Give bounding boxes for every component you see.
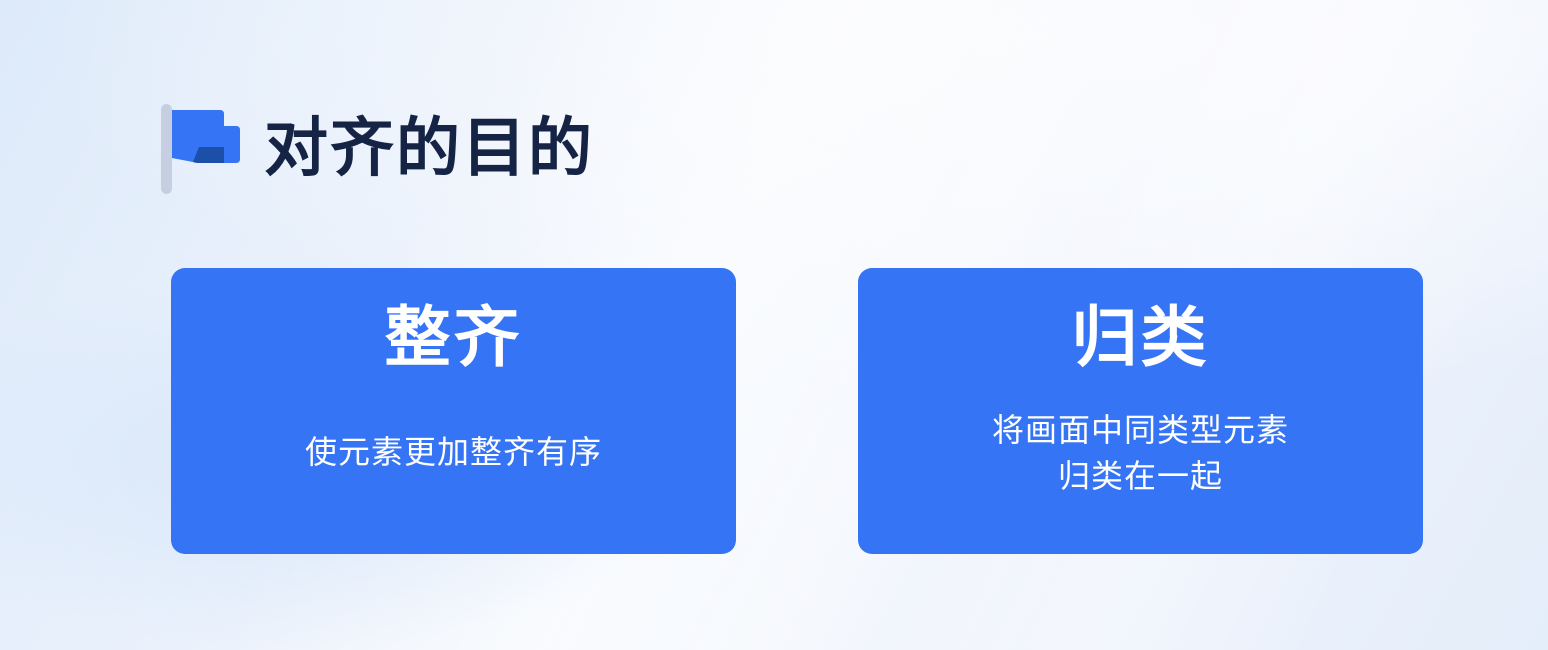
card-title: 整齐: [385, 302, 523, 373]
card-title: 归类: [1072, 302, 1210, 373]
page-heading: 对齐的目的: [158, 100, 594, 196]
concept-card-tidy[interactable]: 整齐 使元素更加整齐有序: [171, 268, 736, 554]
page-title: 对齐的目的: [264, 116, 594, 180]
slide-canvas: 对齐的目的 整齐 使元素更加整齐有序 归类 将画面中同类型元素 归类在一起: [0, 0, 1548, 650]
card-description: 使元素更加整齐有序: [305, 429, 602, 475]
concept-card-grouping[interactable]: 归类 将画面中同类型元素 归类在一起: [858, 268, 1423, 554]
flag-icon: [158, 100, 242, 196]
concept-card-group: 整齐 使元素更加整齐有序 归类 将画面中同类型元素 归类在一起: [171, 268, 1422, 554]
card-description: 将画面中同类型元素 归类在一起: [992, 407, 1289, 499]
